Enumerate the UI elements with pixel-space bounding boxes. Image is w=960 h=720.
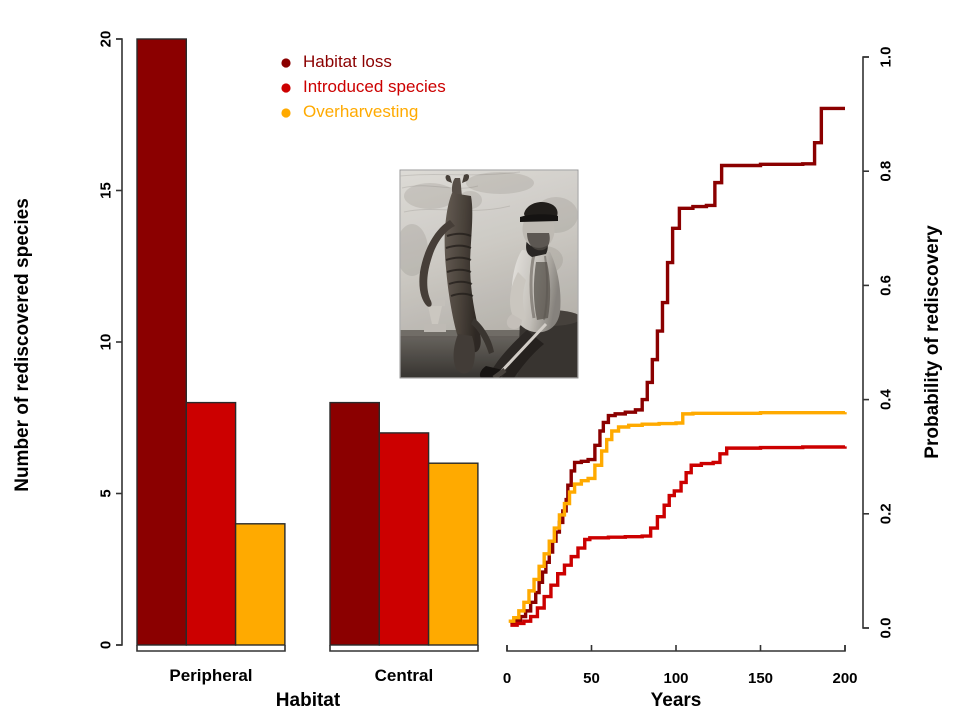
legend-label-introduced-species: Introduced species: [303, 77, 446, 96]
bar-panel-xlabel: Habitat: [276, 690, 341, 711]
line-xtick-label: 100: [663, 670, 688, 687]
bar-group-brackets: [137, 645, 478, 651]
legend-label-overharvesting: Overharvesting: [303, 102, 418, 121]
bar-group-labels: PeripheralCentral: [169, 666, 433, 685]
right-axis-title: Probability of rediscovery: [922, 225, 943, 459]
figure-canvas: 05101520 Number of rediscovered species …: [0, 0, 960, 720]
legend: Habitat lossIntroduced speciesOverharves…: [281, 52, 445, 121]
curve-introduced-species: [510, 446, 845, 625]
left-tick-label: 15: [98, 182, 115, 199]
right-axis-ticks: 0.00.20.40.60.81.0: [863, 47, 895, 639]
legend-label-habitat-loss: Habitat loss: [303, 52, 392, 71]
curve-overharvesting: [509, 412, 845, 621]
bar-central-introduced-species: [379, 433, 428, 645]
right-tick-label: 0.6: [878, 275, 895, 296]
right-tick-label: 0.2: [878, 503, 895, 524]
right-tick-label: 0.0: [878, 618, 895, 639]
left-axis-ticks: 05101520: [98, 31, 123, 650]
bar-peripheral-introduced-species: [186, 403, 235, 645]
left-axis-title: Number of rediscovered species: [12, 198, 33, 492]
bar-group-label-peripheral: Peripheral: [169, 666, 252, 685]
line-xtick-label: 150: [748, 670, 773, 687]
line-panel-xlabel: Years: [651, 690, 702, 711]
line-xtick-label: 0: [503, 670, 511, 687]
left-tick-label: 20: [98, 31, 115, 48]
right-tick-label: 0.4: [878, 389, 895, 411]
line-xtick-label: 200: [832, 670, 857, 687]
bar-peripheral-habitat-loss: [137, 39, 186, 645]
bracket-central: [330, 645, 478, 651]
legend-marker-icon: [281, 58, 290, 67]
left-tick-label: 10: [98, 334, 115, 351]
thylacine-hunter-photograph: [396, 170, 581, 379]
bar-central-habitat-loss: [330, 403, 379, 645]
bar-group-label-central: Central: [375, 666, 434, 685]
right-tick-label: 0.8: [878, 161, 895, 182]
bar-central-overharvesting: [429, 463, 478, 645]
right-axis-line: [863, 57, 869, 628]
legend-marker-icon: [281, 108, 290, 117]
right-axis: 0.00.20.40.60.81.0 Probability of redisc…: [863, 47, 943, 639]
combined-chart: 05101520 Number of rediscovered species …: [0, 0, 960, 720]
left-tick-label: 0: [98, 641, 115, 649]
left-tick-label: 5: [98, 489, 115, 497]
bar-peripheral-overharvesting: [236, 524, 285, 645]
line-xtick-label: 50: [583, 670, 600, 687]
left-axis: 05101520 Number of rediscovered species: [12, 31, 122, 650]
legend-marker-icon: [281, 83, 290, 92]
right-tick-label: 1.0: [878, 47, 895, 68]
bracket-peripheral: [137, 645, 285, 651]
